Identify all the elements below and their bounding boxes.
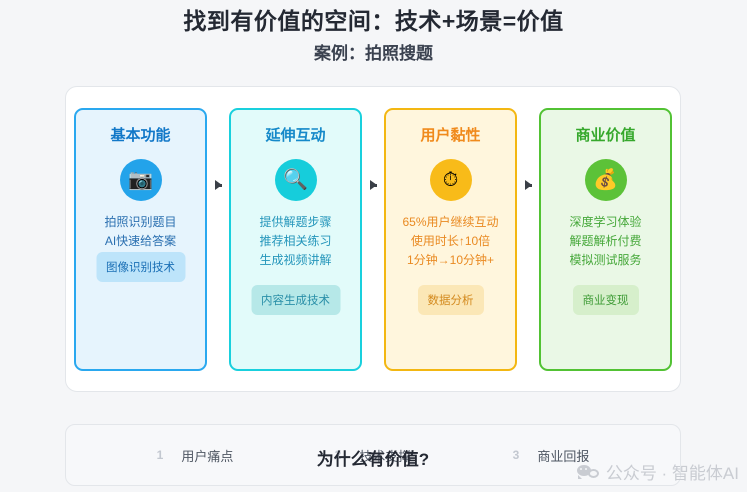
stopwatch-icon: ⏱ <box>430 159 472 201</box>
card-line: 生成视频讲解 <box>259 251 331 270</box>
card-line: 拍照识别题目 <box>104 213 176 232</box>
card-title: 商业价值 <box>575 126 635 146</box>
step-label: 技术支撑 <box>359 446 411 465</box>
arrow-right-icon <box>362 108 384 371</box>
flow-panel: 基本功能 📷 拍照识别题目 AI快速给答案 图像识别技术 延伸互动 🔍 提供解题… <box>65 86 681 392</box>
step-number: 1 <box>157 448 164 462</box>
money-bag-icon: 💰 <box>585 159 627 201</box>
flow-card-extended-interaction[interactable]: 延伸互动 🔍 提供解题步骤 推荐相关练习 生成视频讲解 内容生成技术 <box>229 108 362 371</box>
card-line: AI快速给答案 <box>104 232 176 251</box>
arrow-right-icon <box>207 108 229 371</box>
card-title: 延伸互动 <box>265 126 325 146</box>
watermark-text: 公众号 · 智能体AI <box>606 459 739 484</box>
step-item-user-pain[interactable]: 1 用户痛点 <box>157 446 234 465</box>
step-number: 2 <box>335 448 342 462</box>
flow-card-basic-function[interactable]: 基本功能 📷 拍照识别题目 AI快速给答案 图像识别技术 <box>74 108 207 371</box>
step-item-tech-support[interactable]: 2 技术支撑 <box>335 446 412 465</box>
card-line: 65%用户继续互动 <box>402 213 498 232</box>
page-subtitle: 案例：拍照搜题 <box>0 43 747 65</box>
card-line: 解题解析付费 <box>569 232 641 251</box>
slide-root: 找到有价值的空间：技术+场景=价值 案例：拍照搜题 基本功能 📷 拍照识别题目 … <box>0 0 747 492</box>
card-lines: 65%用户继续互动 使用时长↑10倍 1分钟→10分钟+ <box>402 213 498 270</box>
card-tag[interactable]: 商业变现 <box>573 285 639 315</box>
card-title: 用户黏性 <box>420 126 480 146</box>
card-line: 深度学习体验 <box>569 213 641 232</box>
card-lines: 深度学习体验 解题解析付费 模拟测试服务 <box>569 213 641 270</box>
flow-card-user-stickiness[interactable]: 用户黏性 ⏱ 65%用户继续互动 使用时长↑10倍 1分钟→10分钟+ 数据分析 <box>384 108 517 371</box>
watermark: 公众号 · 智能体AI <box>577 459 739 484</box>
card-tag[interactable]: 数据分析 <box>418 285 484 315</box>
card-title: 基本功能 <box>110 126 170 146</box>
card-tag[interactable]: 内容生成技术 <box>251 285 340 315</box>
card-tag[interactable]: 图像识别技术 <box>96 252 185 282</box>
camera-icon: 📷 <box>120 159 162 201</box>
flow-card-business-value[interactable]: 商业价值 💰 深度学习体验 解题解析付费 模拟测试服务 商业变现 <box>539 108 672 371</box>
card-line: 使用时长↑10倍 <box>402 232 498 251</box>
page-title: 找到有价值的空间：技术+场景=价值 <box>0 6 747 36</box>
card-line: 1分钟→10分钟+ <box>402 251 498 270</box>
card-lines: 提供解题步骤 推荐相关练习 生成视频讲解 <box>259 213 331 270</box>
wechat-icon <box>577 464 599 480</box>
card-line: 推荐相关练习 <box>259 232 331 251</box>
magnifier-icon: 🔍 <box>275 159 317 201</box>
step-label: 用户痛点 <box>181 446 233 465</box>
card-line: 模拟测试服务 <box>569 251 641 270</box>
step-number: 3 <box>513 448 520 462</box>
slide-header: 找到有价值的空间：技术+场景=价值 案例：拍照搜题 <box>0 0 747 65</box>
arrow-right-icon <box>517 108 539 371</box>
card-lines: 拍照识别题目 AI快速给答案 <box>104 213 176 251</box>
flow-card-list: 基本功能 📷 拍照识别题目 AI快速给答案 图像识别技术 延伸互动 🔍 提供解题… <box>66 87 680 391</box>
card-line: 提供解题步骤 <box>259 213 331 232</box>
